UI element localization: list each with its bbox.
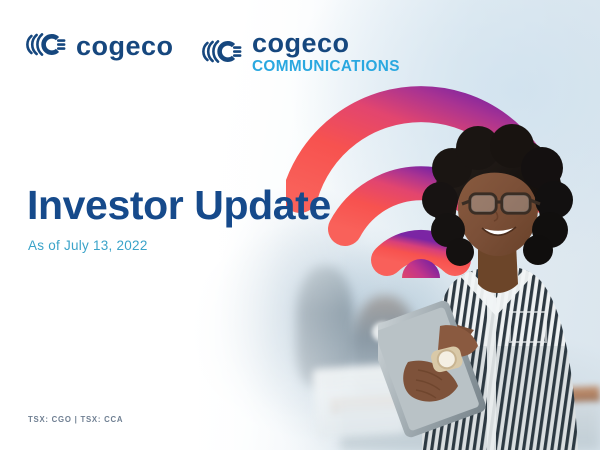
page-title: Investor Update: [27, 182, 331, 229]
stock-ticker-label: TSX: CGO | TSX: CCA: [28, 415, 123, 424]
cogeco-logo: cogeco: [26, 31, 174, 63]
woman-holding-tablet-photo: [378, 116, 600, 450]
cogeco-signal-mark-icon: [202, 38, 243, 70]
communications-wordmark: COMMUNICATIONS: [252, 58, 400, 76]
investor-update-slide: cogeco cogeco COMMUNICATIONS: [0, 0, 600, 450]
cogeco-communications-logo: cogeco COMMUNICATIONS: [202, 31, 401, 76]
page-subtitle-date: As of July 13, 2022: [28, 238, 148, 253]
cogeco-wordmark: cogeco: [252, 28, 350, 58]
cogeco-wordmark: cogeco: [76, 34, 174, 59]
cogeco-signal-mark-icon: [26, 31, 67, 63]
